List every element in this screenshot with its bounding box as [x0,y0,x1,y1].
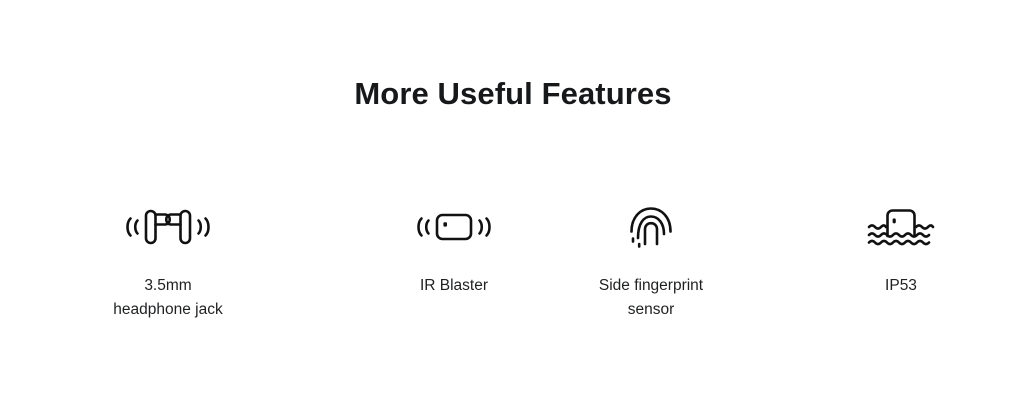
feature-label-fingerprint: Side fingerprint sensor [599,274,703,322]
feature-label-line-2: headphone jack [113,298,222,322]
features-row: 3.5mm headphone jack [0,196,1026,322]
feature-label-headphone-jack: 3.5mm headphone jack [113,274,222,322]
feature-item-ir-blaster: IR Blaster [336,196,526,298]
ir-blaster-icon [410,196,498,258]
feature-label-ir-blaster: IR Blaster [420,274,488,298]
fingerprint-icon [627,196,675,258]
feature-label-line-1: IR Blaster [420,274,488,298]
water-resistant-phone-icon [866,196,936,258]
feature-item-headphone-jack: 3.5mm headphone jack [0,196,336,322]
feature-label-ip53: IP53 [885,274,917,298]
feature-label-line-2: sensor [599,298,703,322]
feature-label-line-1: Side fingerprint [599,274,703,298]
more-useful-features-section: More Useful Features [0,0,1026,407]
feature-item-fingerprint: Side fingerprint sensor [526,196,776,322]
page-title: More Useful Features [0,74,1026,114]
feature-item-ip53: IP53 [776,196,1026,298]
feature-label-line-1: 3.5mm [113,274,222,298]
feature-label-line-1: IP53 [885,274,917,298]
earbuds-icon [116,196,220,258]
